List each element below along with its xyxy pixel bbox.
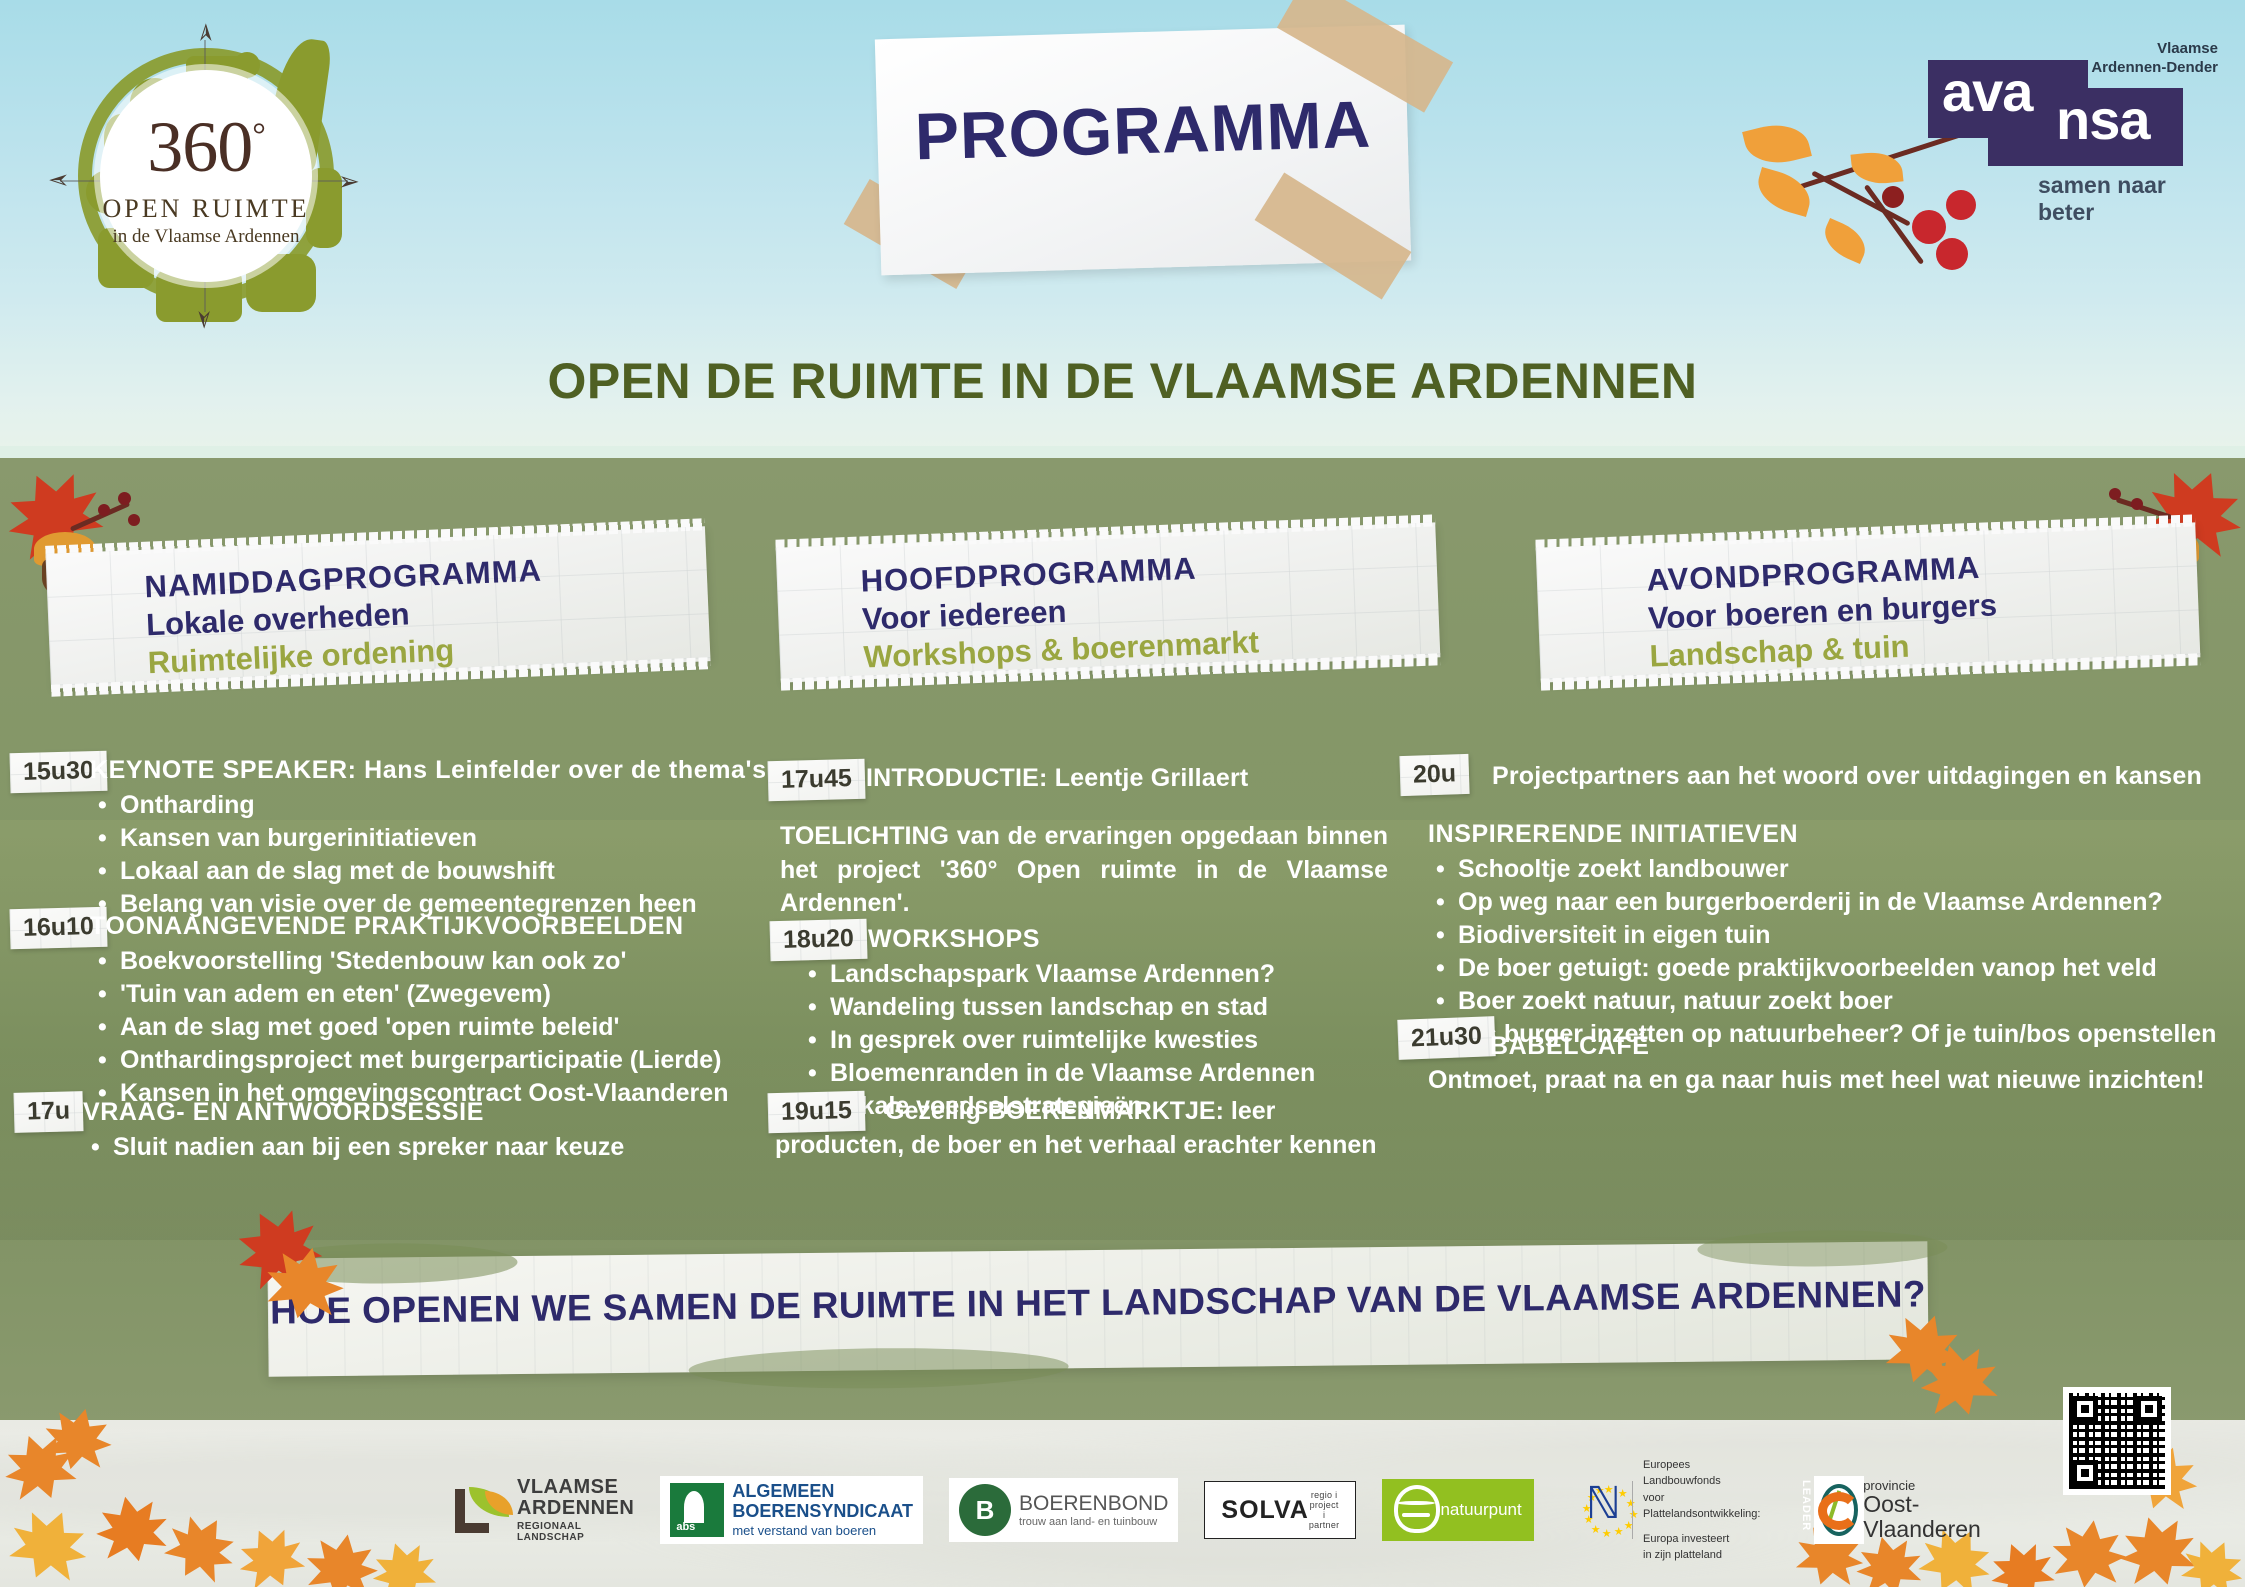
logo-line1: VLAAMSE	[517, 1477, 634, 1497]
compass-west-arrow-icon: ➢	[48, 168, 70, 194]
item-heading: BABELCAFÉ	[1490, 1032, 2245, 1061]
np-outline	[1394, 1485, 1440, 1533]
logo-degree-symbol: °	[252, 117, 265, 154]
elfpo-line1: Europees Landbouwfonds	[1643, 1457, 1766, 1490]
list-item: Biodiversiteit in eigen tuin	[1428, 919, 2238, 952]
list-item: 'Tuin van adem en eten' (Zwegevem)	[90, 978, 790, 1011]
berry-icon-r1	[2109, 488, 2121, 500]
poster-root: ➢ ➢ ➢ ➢ 360° OPEN RUIMTE in de Vlaamse A…	[0, 0, 2245, 1587]
list-item: Wandeling tussen landschap en stad	[800, 991, 1440, 1024]
logo-natuurpunt: natuurpunt	[1382, 1479, 1533, 1541]
item-heading: Projectpartners aan het woord over uitda…	[1492, 762, 2245, 791]
elfpo-spacer	[1643, 1523, 1766, 1531]
item-heading: KEYNOTE SPEAKER: Hans Leinfelder over de…	[90, 756, 770, 785]
footer-leaves-left	[0, 1400, 430, 1587]
logo-line2: ARDENNEN	[517, 1498, 634, 1518]
ovl-text-block: provincie Oost-Vlaanderen	[1863, 1479, 1994, 1540]
avansa-logo: ava nsa Vlaamse Ardennen-Dender samen na…	[1928, 38, 2218, 218]
schedule-item-keynote: KEYNOTE SPEAKER: Hans Leinfelder over de…	[90, 756, 770, 921]
solva-tagline: regio i project i partner	[1309, 1490, 1340, 1530]
boerenbond-text-block: BOERENBOND trouw aan land- en tuinbouw	[1019, 1492, 1168, 1528]
logo-subtitle-text: in de Vlaamse Ardennen	[100, 226, 312, 248]
compass-east-arrow-icon: ➢	[338, 168, 360, 194]
avansa-region-line1: Vlaamse	[2088, 40, 2218, 59]
item-paragraph: Ontmoet, praat na en ga naar huis met he…	[1428, 1064, 2238, 1098]
time-label: 17u	[27, 1096, 71, 1125]
berry-4	[1882, 186, 1904, 208]
footer-leaf-7	[301, 1528, 383, 1587]
time-badge-17u45: 17u45	[767, 759, 865, 802]
time-badge-17u: 17u	[13, 1091, 83, 1133]
natuurpunt-icon	[1394, 1485, 1440, 1533]
column-heading-text-3: AVONDPROGRAMMA Voor boeren en burgers La…	[1646, 548, 1999, 675]
footer-leaf-3	[0, 1498, 98, 1587]
qr-finder-bottom-left	[2072, 1460, 2098, 1486]
column-heading-text-1: NAMIDDAGPROGRAMMA Lokale overheden Ruimt…	[144, 552, 546, 682]
oost-vlaanderen-swirl-icon	[1818, 1484, 1857, 1536]
berry-icon-r2	[2131, 498, 2143, 510]
item-bullet-list: Sluit nadien aan bij een spreker naar ke…	[83, 1131, 783, 1164]
logo-open-ruimte-text: OPEN RUIMTE	[100, 194, 312, 224]
compass-north-arrow-icon: ➢	[192, 22, 218, 44]
logo-360-open-ruimte: ➢ ➢ ➢ ➢ 360° OPEN RUIMTE in de Vlaamse A…	[38, 18, 368, 328]
logo-text-block: VLAAMSE ARDENNEN REGIONAAL LANDSCHAP	[517, 1477, 634, 1543]
list-item: Boer zoekt natuur, natuur zoekt boer	[1428, 985, 2238, 1018]
list-item: Kansen van burgerinitiatieven	[90, 822, 770, 855]
boerenbond-bold: BOEREN	[1019, 1492, 1108, 1515]
logo-360-digits: 360	[147, 107, 252, 187]
avansa-tagline: samen naar beter	[2038, 172, 2218, 226]
footer-leaf-4	[90, 1489, 174, 1569]
list-item: De boer getuigt: goede praktijkvoorbeeld…	[1428, 952, 2238, 985]
schedule-item-babelcafe: BABELCAFÉ	[1490, 1032, 2245, 1061]
logo-boerenbond: B BOERENBOND trouw aan land- en tuinbouw	[949, 1478, 1178, 1542]
item-heading: INTRODUCTIE: Leentje Grillaert	[866, 764, 1426, 793]
babelcafe-description: Ontmoet, praat na en ga naar huis met he…	[1428, 1064, 2238, 1098]
compass-south-arrow-icon: ➢	[192, 308, 218, 330]
leader-name: LEADER	[1794, 1480, 1812, 1531]
logo-sub2: LANDSCHAP	[517, 1532, 634, 1543]
list-item: Bloemenranden in de Vlaamse Ardennen	[800, 1057, 1440, 1090]
item-heading: TOONAANGEVENDE PRAKTIJKVOORBEELDEN	[90, 912, 790, 941]
list-item: Sluit nadien aan bij een spreker naar ke…	[83, 1131, 783, 1164]
flemish-lion-icon: ℕ	[1586, 1482, 1622, 1538]
berry-icon-2	[98, 504, 110, 516]
abs-mark-icon: abs	[670, 1483, 724, 1537]
leaf-2	[1752, 167, 1816, 217]
logo-360-number: 360°	[100, 106, 312, 189]
footer-leaf-r5	[2048, 1515, 2131, 1587]
footer-leaf-6	[229, 1517, 314, 1587]
natuurpunt-name: natuurpunt	[1440, 1500, 1521, 1520]
leaf-4	[1818, 218, 1872, 264]
schedule-item-vraag-antwoord: VRAAG- EN ANTWOORDSESSIE Sluit nadien aa…	[83, 1098, 783, 1164]
page-headline: OPEN DE RUIMTE IN DE VLAAMSE ARDENNEN	[0, 352, 2245, 410]
programma-title: PROGRAMMA	[877, 85, 1409, 176]
schedule-item-workshops: WORKSHOPS	[868, 925, 1488, 954]
qr-finder-top-right	[2136, 1396, 2162, 1422]
logo-divider	[1632, 1481, 1633, 1539]
list-item: In gesprek over ruimtelijke kwesties	[800, 1024, 1440, 1057]
boerenbond-light: BOND	[1108, 1492, 1169, 1515]
time-label: 15u30	[23, 756, 95, 786]
ornament-banner-right	[1880, 1310, 2010, 1430]
avansa-wordmark-ava: ava	[1942, 64, 2032, 120]
ovl-line2: Oost-Vlaanderen	[1863, 1492, 1994, 1540]
logo-sub1: REGIONAAL	[517, 1521, 634, 1532]
item-bullet-list: Ontharding Kansen van burgerinitiatieven…	[90, 789, 770, 921]
schedule-item-introductie: INTRODUCTIE: Leentje Grillaert	[866, 764, 1426, 793]
boerenbond-name: BOERENBOND	[1019, 1492, 1168, 1516]
time-badge-21u30: 21u30	[1397, 1016, 1495, 1060]
time-label: 18u20	[783, 924, 855, 954]
berry-icon-1	[118, 492, 131, 505]
abs-text-block: ALGEMEEN BOERENSYNDICAAT met verstand va…	[732, 1482, 913, 1537]
icon-l-base	[455, 1523, 489, 1533]
list-item: Ontharding	[90, 789, 770, 822]
schedule-item-inspirerende-initiatieven: INSPIRERENDE INITIATIEVEN Schooltje zoek…	[1428, 820, 2238, 1051]
list-item: Landschapspark Vlaamse Ardennen?	[800, 958, 1440, 991]
boerenbond-mark-icon: B	[959, 1484, 1011, 1536]
abs-line2: BOERENSYNDICAAT	[732, 1502, 913, 1521]
logo-elfpo-vlaanderen: ℕ Europees Landbouwfonds voor Platteland…	[1586, 1457, 1766, 1564]
np-bar-2	[1402, 1513, 1430, 1517]
time-badge-18u20: 18u20	[769, 919, 867, 962]
list-item: Boekvoorstelling 'Stedenbouw kan ook zo'	[90, 945, 790, 978]
item-heading: WORKSHOPS	[868, 925, 1488, 954]
list-item: Aan de slag met goed 'open ruimte beleid…	[90, 1011, 790, 1044]
elfpo-line4: in zijn platteland	[1643, 1547, 1766, 1564]
list-item: Op weg naar een burgerboerderij in de Vl…	[1428, 886, 2238, 919]
ornament-banner-left	[232, 1205, 372, 1335]
avansa-wordmark-nsa: nsa	[2056, 92, 2150, 148]
schedule-item-boerenmarktje: Gezellig BOERENMARKTJE: leer producten, …	[775, 1095, 1395, 1162]
logo-algemeen-boerensyndicaat: abs ALGEMEEN BOERENSYNDICAAT met verstan…	[660, 1476, 923, 1543]
berry-icon-3	[128, 514, 140, 526]
elfpo-line2: voor Plattelandsontwikkeling:	[1643, 1490, 1766, 1523]
schedule-item-projectpartners: Projectpartners aan het woord over uitda…	[1492, 762, 2245, 791]
footer-leaf-5	[155, 1503, 248, 1587]
swirl-arc	[1818, 1492, 1860, 1530]
time-badge-20u: 20u	[1399, 754, 1469, 796]
boerenbond-tagline: trouw aan land- en tuinbouw	[1019, 1516, 1168, 1528]
abs-leaf-shape	[684, 1491, 704, 1523]
abs-line1: ALGEMEEN	[732, 1482, 913, 1501]
item-bullet-list: Schooltje zoekt landbouwer Op weg naar e…	[1428, 853, 2238, 1051]
logo-provincie-oost-vlaanderen: provincie Oost-Vlaanderen	[1818, 1479, 1994, 1540]
item-heading: Gezellig BOERENMARKTJE: leer producten, …	[775, 1095, 1395, 1162]
sky-bottom-band	[0, 446, 2245, 458]
time-label: 16u10	[23, 912, 95, 942]
avansa-region: Vlaamse Ardennen-Dender	[2088, 40, 2218, 78]
schedule-item-praktijkvoorbeelden: TOONAANGEVENDE PRAKTIJKVOORBEELDEN Boekv…	[90, 912, 790, 1110]
list-item: Onthardingsproject met burgerparticipati…	[90, 1044, 790, 1077]
item-heading: VRAAG- EN ANTWOORDSESSIE	[83, 1098, 783, 1127]
elfpo-text-block: Europees Landbouwfonds voor Plattelandso…	[1643, 1457, 1766, 1564]
column-heading-text-2: HOOFDPROGRAMMA Voor iedereen Workshops &…	[860, 547, 1260, 676]
abs-initials: abs	[676, 1521, 695, 1533]
time-label: 20u	[1413, 759, 1457, 788]
qr-finder-top-left	[2072, 1396, 2098, 1422]
regionaal-landschap-icon	[455, 1483, 509, 1537]
avansa-region-line2: Ardennen-Dender	[2088, 59, 2218, 78]
list-item: Lokaal aan de slag met de bouwshift	[90, 855, 770, 888]
elfpo-line3: Europa investeert	[1643, 1531, 1766, 1548]
logo-solva: SOLVA regio i project i partner	[1204, 1481, 1356, 1539]
item-paragraph: TOELICHTING van de ervaringen opgedaan b…	[780, 820, 1388, 921]
abs-tagline: met verstand van boeren	[732, 1523, 913, 1538]
item-bullet-list: Boekvoorstelling 'Stedenbouw kan ook zo'…	[90, 945, 790, 1110]
berry-3	[1936, 238, 1968, 270]
solva-name: SOLVA	[1221, 1496, 1308, 1525]
time-label: 17u45	[781, 764, 853, 794]
qr-code[interactable]	[2063, 1387, 2171, 1495]
item-heading: INSPIRERENDE INITIATIEVEN	[1428, 820, 2238, 849]
time-label: 21u30	[1410, 1022, 1482, 1053]
logo-vlaamse-ardennen: VLAAMSE ARDENNEN REGIONAAL LANDSCHAP	[455, 1477, 634, 1543]
list-item: Schooltje zoekt landbouwer	[1428, 853, 2238, 886]
partner-logos-row: VLAAMSE ARDENNEN REGIONAAL LANDSCHAP abs…	[455, 1455, 1785, 1565]
schedule-item-toelichting: TOELICHTING van de ervaringen opgedaan b…	[780, 820, 1388, 921]
